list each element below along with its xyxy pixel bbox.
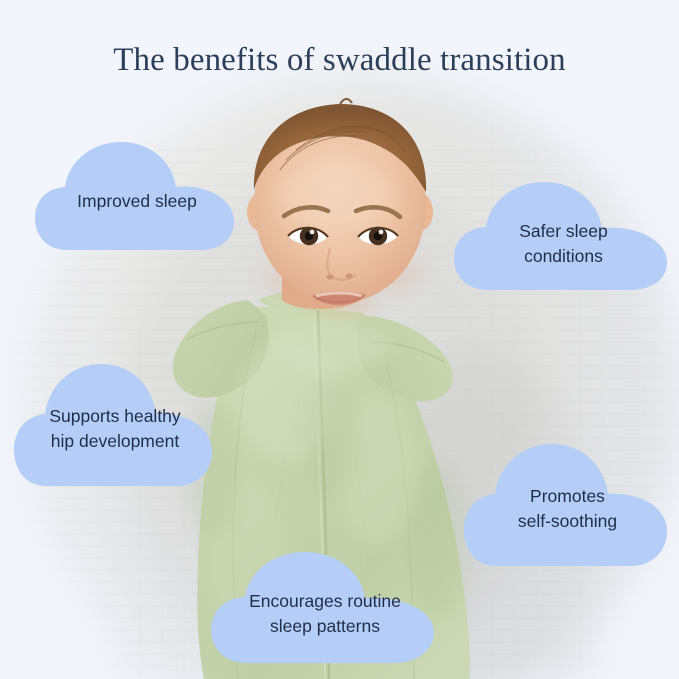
infographic-canvas: The benefits of swaddle transition Impro…: [0, 0, 679, 679]
cloud-shape-icon: [12, 356, 218, 488]
cloud-shape-icon: [452, 174, 675, 292]
cloud-shape-icon: [209, 545, 441, 665]
benefit-cloud-hip-development: Supports healthy hip development: [12, 356, 218, 488]
benefit-cloud-routine-patterns: Encourages routine sleep patterns: [209, 545, 441, 665]
benefit-cloud-self-soothing: Promotes self-soothing: [462, 436, 673, 568]
benefit-cloud-improved-sleep: Improved sleep: [33, 132, 241, 252]
cloud-shape-icon: [33, 132, 241, 252]
page-title: The benefits of swaddle transition: [0, 42, 679, 79]
cloud-shape-icon: [462, 436, 673, 568]
benefit-cloud-safer-sleep: Safer sleep conditions: [452, 174, 675, 292]
